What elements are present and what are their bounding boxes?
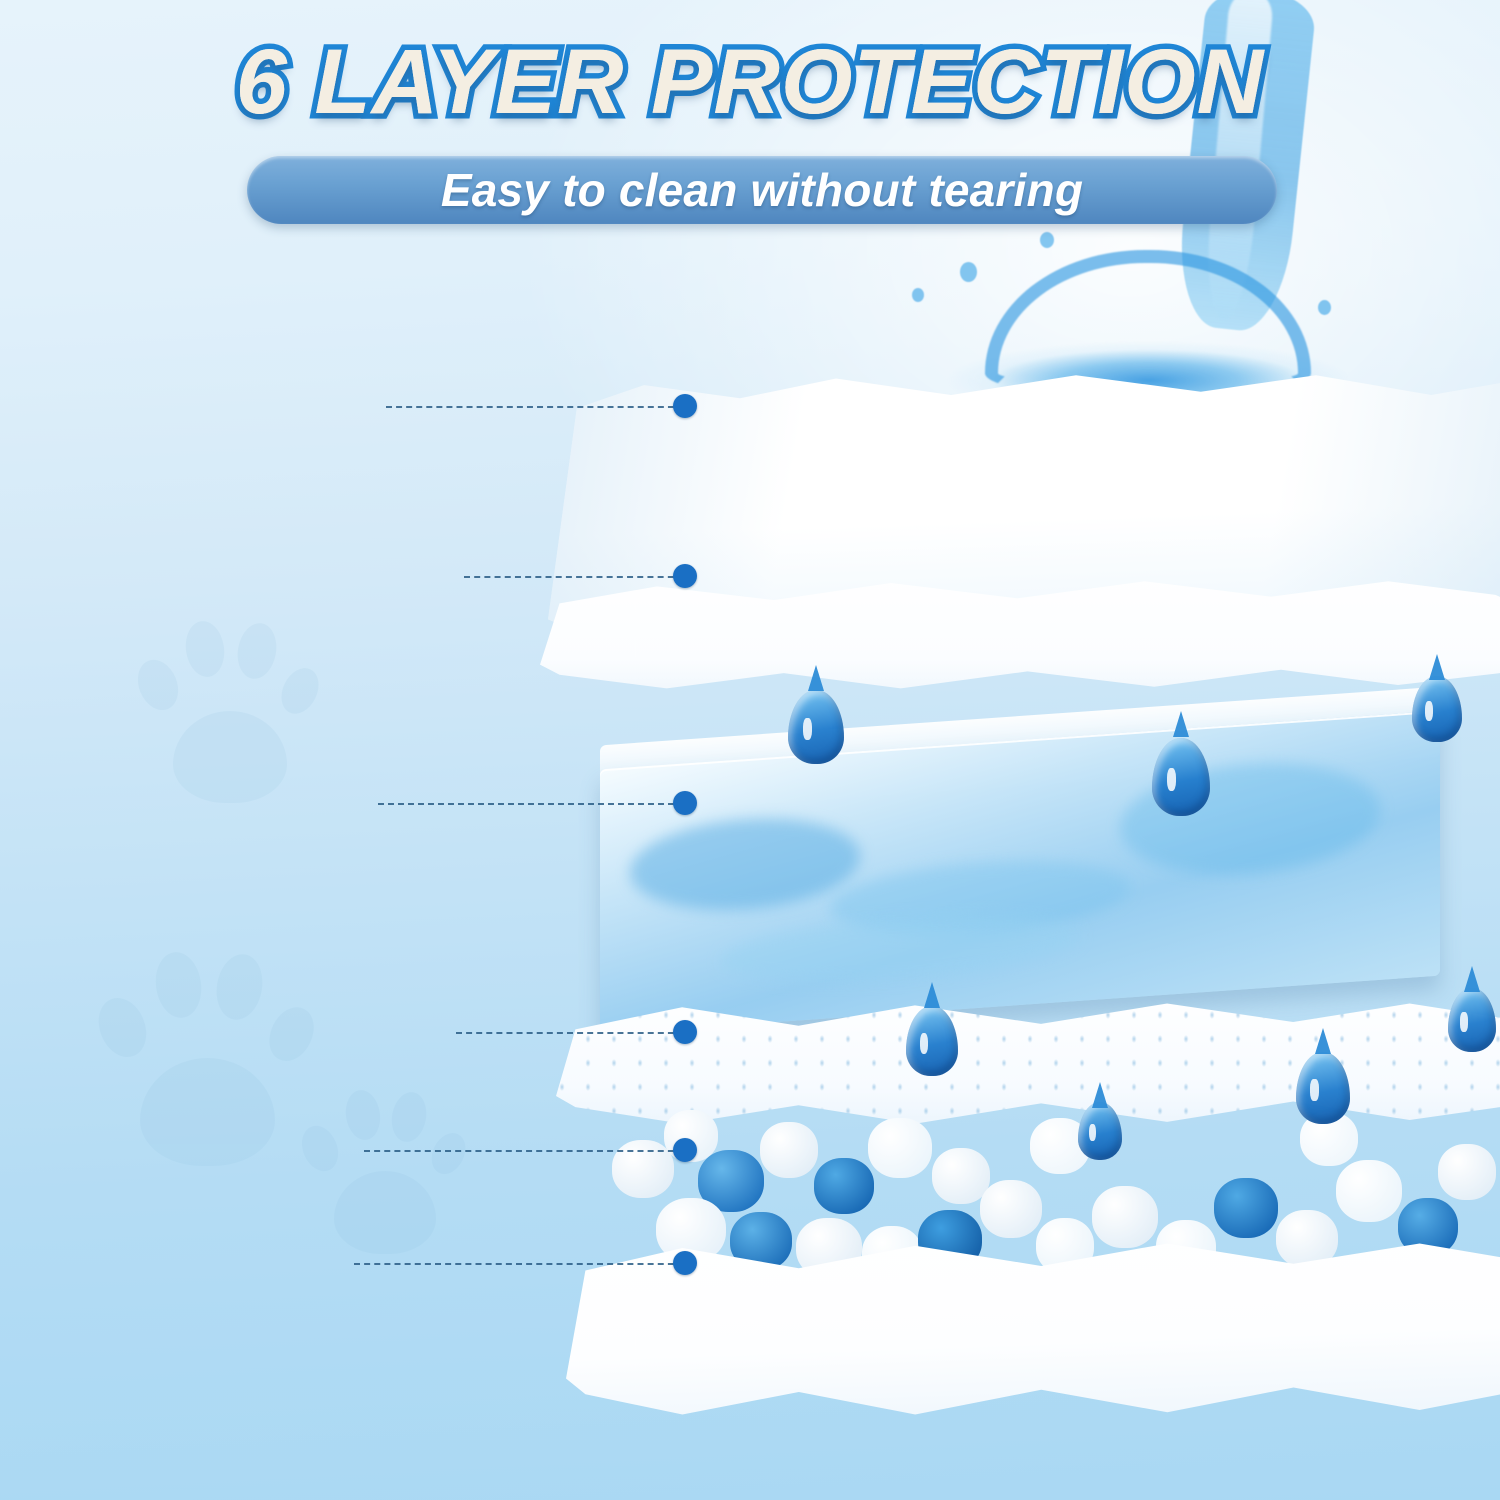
subtitle-banner: Easy to clean without tearing [247,156,1277,224]
callout-dot [673,791,697,815]
droplet-tip [1092,1082,1108,1108]
callout-dot [673,394,697,418]
callout-leader-line [354,1263,684,1265]
callout-leader-line [386,406,684,408]
droplet-tip [1464,966,1480,992]
infographic-canvas: 6 LAYER PROTECTION 6 LAYER PROTECTION Ea… [0,0,1500,1500]
droplet-tip [808,665,824,691]
callout-leader-line [378,803,684,805]
droplet-tip [1429,654,1445,680]
droplet-tip [924,982,940,1008]
callout-leader-line [464,576,684,578]
subtitle-text: Easy to clean without tearing [247,156,1277,224]
callout-dot [673,1251,697,1275]
page-title-fill: 6 LAYER PROTECTION [0,32,1500,132]
callout-leader-line [456,1032,684,1034]
droplet-tip [1315,1028,1331,1054]
droplet-tip [1173,711,1189,737]
callout-leader-line [364,1150,684,1152]
callout-dot [673,1138,697,1162]
callout-dot [673,564,697,588]
product-layer-stack [0,0,1500,1500]
callout-dot [673,1020,697,1044]
